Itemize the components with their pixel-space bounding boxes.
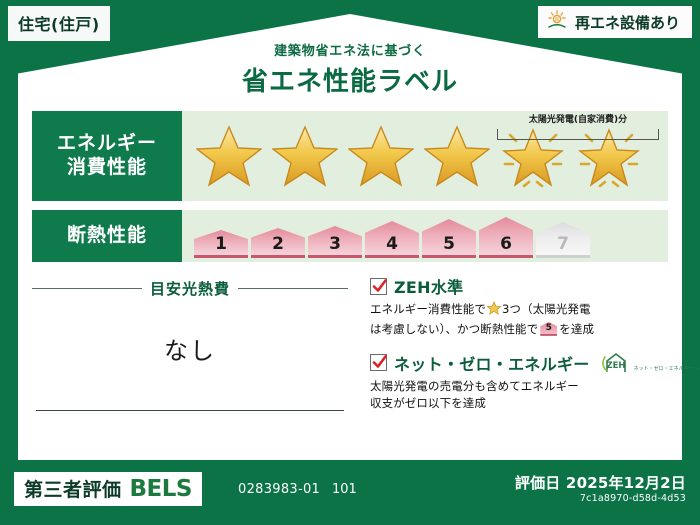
utility-cost-divider [36,410,344,411]
energy-label-line1: エネルギー [57,132,157,156]
desc-part-2: は考慮しない）、かつ断熱性能で [370,322,538,336]
building-type-tag: 住宅(住戸) [8,6,110,41]
utility-cost-section: 目安光熱費 なし [32,274,362,449]
desc-part-3: を達成 [559,322,594,336]
insulation-level: 5 [422,219,476,258]
star-solar [496,119,570,193]
insulation-level-scale: 1 2 3 4 5 [182,210,668,262]
heading-rule-right [238,288,348,289]
heading-rule-left [32,288,142,289]
insulation-level: 2 [251,228,305,258]
utility-cost-heading-text: 目安光熱費 [150,278,230,299]
checklist-title: ZEH水準 [394,274,463,298]
insulation-level: 1 [194,230,248,258]
bels-badge-en: BELS [130,476,192,502]
insulation-performance-label-box: 断熱性能 [32,210,182,262]
svg-text:ZEH: ZEH [606,361,625,371]
insulation-level: 6 [479,217,533,258]
insulation-level: 3 [308,226,362,258]
star-rating [182,111,668,201]
lower-section: 目安光熱費 なし ZEH水準 [32,274,668,449]
bels-badge-jp: 第三者評価 [24,475,122,502]
checklist-row: ネット・ゼロ・エネルギー ZEH ネット・ゼロ・エネルギー・ハウス [370,351,700,375]
energy-performance-label: 住宅(住戸) 再 再エネ設備あり 建築物省エネ法に基づく 省エネ性能ラベル [0,0,700,525]
svg-text:再: 再 [554,17,559,23]
checkbox-checked-icon[interactable] [370,354,387,371]
checklist-title: ネット・ゼロ・エネルギー [394,351,590,375]
bels-badge: 第三者評価 BELS [14,472,202,506]
insulation-label: 断熱性能 [67,224,147,248]
insulation-level-inactive: 7 [536,222,590,258]
insulation-levels-area: 1 2 3 4 5 [182,210,668,262]
certificate-number: 0283983-01 [238,482,320,497]
insulation-level-number: 3 [329,234,341,258]
title-block: 建築物省エネ法に基づく 省エネ性能ラベル [0,40,700,98]
star-icon [487,301,501,321]
insulation-badge-icon: 5 [540,322,557,336]
desc-star-count: 3つ（太陽光発電 [502,302,591,316]
title-subtitle: 建築物省エネ法に基づく [0,40,700,59]
star-filled [268,119,342,193]
unit-number: 101 [332,482,357,497]
desc-line-1: 太陽光発電の売電分も含めてエネルギー [370,379,579,393]
zeh-logo: ZEH ネット・ゼロ・エネルギー・ハウス [599,352,700,374]
checklist-item-zeh-standard: ZEH水準 エネルギー消費性能で3つ（太陽光発電は考慮しない）、かつ断熱性能で5… [370,274,700,339]
insulation-level-number: 4 [386,234,398,258]
insulation-level-number: 7 [557,234,569,258]
evaluation-id: 7c1a8970-d58d-4d53 [580,493,686,504]
checklist-description: エネルギー消費性能で3つ（太陽光発電は考慮しない）、かつ断熱性能で5を達成 [370,301,700,339]
checklist-description: 太陽光発電の売電分も含めてエネルギー収支がゼロ以下を達成 [370,378,700,414]
star-solar [572,119,646,193]
zeh-logo-subtext: ネット・ゼロ・エネルギー・ハウス [634,365,700,374]
utility-cost-heading: 目安光熱費 [32,278,348,299]
certification-checklist: ZEH水準 エネルギー消費性能で3つ（太陽光発電は考慮しない）、かつ断熱性能で5… [362,274,700,449]
checklist-item-net-zero-energy: ネット・ゼロ・エネルギー ZEH ネット・ゼロ・エネルギー・ハウス 太陽光発電の… [370,351,700,414]
checkbox-checked-icon[interactable] [370,278,387,295]
utility-cost-value: なし [32,331,348,366]
sun-icon: 再 [546,10,568,34]
desc-part-1: エネルギー消費性能で [370,302,486,316]
title-main: 省エネ性能ラベル [0,61,700,98]
insulation-level-number: 5 [443,234,455,258]
renewable-energy-badge: 再 再エネ設備あり [538,6,692,38]
insulation-badge-number: 5 [540,322,557,336]
energy-label-line2: 消費性能 [67,156,147,180]
insulation-performance-row: 断熱性能 1 2 3 [32,210,668,262]
renewable-badge-label: 再エネ設備あり [575,12,680,33]
insulation-level-number: 2 [272,234,284,258]
star-filled [420,119,494,193]
insulation-level: 4 [365,221,419,258]
evaluation-date: 評価日 2025年12月2日 [515,472,686,493]
body-panel: エネルギー 消費性能 太陽光発電(自家消費)分 [18,100,682,460]
star-filled [344,119,418,193]
desc-line-2: 収支がゼロ以下を達成 [370,396,486,410]
star-filled [192,119,266,193]
checklist-row: ZEH水準 [370,274,700,298]
energy-performance-label-box: エネルギー 消費性能 [32,111,182,201]
insulation-level-number: 1 [215,234,227,258]
energy-performance-row: エネルギー 消費性能 太陽光発電(自家消費)分 [32,111,668,201]
insulation-level-number: 6 [500,234,512,258]
footer-band: 第三者評価 BELS 0283983-01 101 評価日 2025年12月2日… [0,460,700,525]
energy-stars-area: 太陽光発電(自家消費)分 [182,111,668,201]
